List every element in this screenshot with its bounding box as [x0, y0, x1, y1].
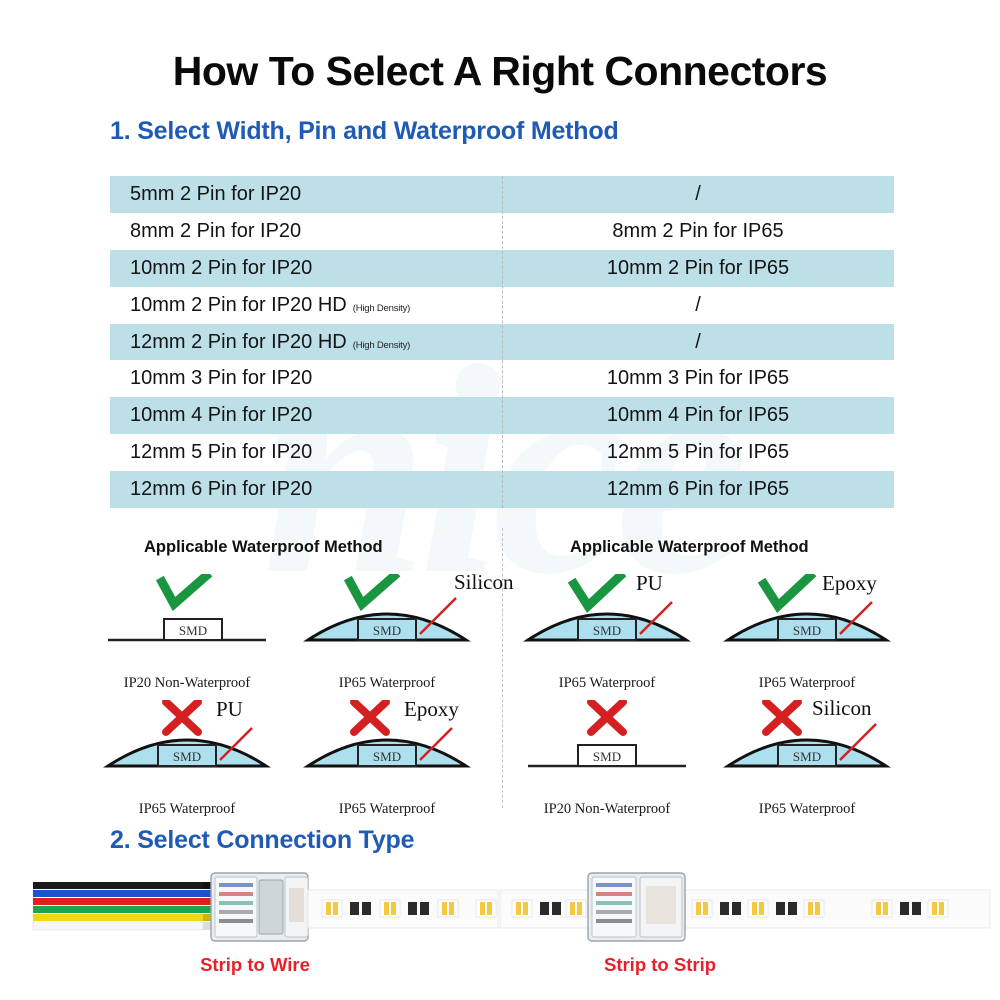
cell-text: 8mm 2 Pin for IP20 — [130, 220, 301, 243]
table-cell-right: / — [502, 176, 894, 213]
table-cell-left: 10mm 2 Pin for IP20 — [110, 250, 502, 287]
material-label: PU — [216, 697, 243, 722]
wire-bundle — [33, 882, 203, 930]
cross-icon — [354, 702, 386, 732]
table-cell-left: 12mm 6 Pin for IP20 — [110, 471, 502, 508]
smd-label: SMD — [793, 623, 821, 638]
waterproof-diagram: SMD Epoxy IP65 Waterproof — [292, 700, 482, 818]
cell-text: 12mm 5 Pin for IP20 — [130, 441, 312, 464]
table-cell-right: 12mm 5 Pin for IP65 — [502, 434, 894, 471]
diagram-caption: IP65 Waterproof — [92, 801, 282, 818]
diagram-caption: IP65 Waterproof — [712, 801, 902, 818]
check-icon — [350, 576, 394, 604]
cell-text: 10mm 3 Pin for IP65 — [607, 367, 789, 390]
cell-text: 5mm 2 Pin for IP20 — [130, 183, 301, 206]
cell-text: 12mm 5 Pin for IP65 — [607, 441, 789, 464]
led-strip-left — [308, 890, 498, 928]
check-icon — [764, 576, 810, 606]
cell-text: 10mm 2 Pin for IP20 — [130, 257, 312, 280]
connector-photo-graphic — [0, 868, 1000, 1000]
waterproof-diagram: SMD Epoxy IP65 Waterproof — [712, 574, 902, 692]
material-label: Epoxy — [404, 697, 459, 722]
smd-label: SMD — [793, 749, 821, 764]
table-cell-left: 12mm 5 Pin for IP20 — [110, 434, 502, 471]
diagram-caption: IP65 Waterproof — [512, 675, 702, 692]
cell-text: 12mm 6 Pin for IP65 — [607, 478, 789, 501]
smd-label: SMD — [373, 623, 401, 638]
table-cell-left: 8mm 2 Pin for IP20 — [110, 213, 502, 250]
waterproof-diagram: SMD IP20 Non-Waterproof — [92, 574, 282, 692]
diagram-graphic: SMD — [512, 574, 702, 674]
connection-type-illustration: Strip to Wire Strip to Strip — [0, 868, 1000, 1000]
strip-to-strip-connector — [588, 873, 685, 941]
smd-label: SMD — [373, 749, 401, 764]
diagram-caption: IP65 Waterproof — [292, 801, 482, 818]
material-label: Silicon — [812, 696, 872, 721]
cell-text: 10mm 4 Pin for IP20 — [130, 404, 312, 427]
check-icon — [162, 576, 206, 604]
cell-text: 10mm 2 Pin for IP65 — [607, 257, 789, 280]
smd-label: SMD — [173, 749, 201, 764]
cell-text: 10mm 3 Pin for IP20 — [130, 367, 312, 390]
high-density-note: (High Density) — [353, 340, 410, 351]
waterproof-diagram: SMD Silicon IP65 Waterproof — [292, 574, 482, 692]
table-cell-right: / — [502, 324, 894, 361]
diagram-graphic: SMD — [712, 700, 902, 800]
waterproof-diagram: SMD Silicon IP65 Waterproof — [712, 700, 902, 818]
cross-icon — [166, 702, 198, 732]
table-cell-right: 10mm 2 Pin for IP65 — [502, 250, 894, 287]
table-cell-left: 5mm 2 Pin for IP20 — [110, 176, 502, 213]
smd-label: SMD — [179, 623, 207, 638]
table-cell-right: / — [502, 287, 894, 324]
diagram-graphic: SMD — [512, 700, 702, 800]
table-cell-right: 10mm 3 Pin for IP65 — [502, 360, 894, 397]
waterproof-diagram: SMD PU IP65 Waterproof — [512, 574, 702, 692]
diagram-graphic: SMD — [92, 574, 282, 674]
cell-text: / — [695, 294, 701, 317]
page-title: How To Select A Right Connectors — [0, 48, 1000, 95]
strip-to-wire-caption: Strip to Wire — [175, 954, 335, 976]
table-cell-right: 8mm 2 Pin for IP65 — [502, 213, 894, 250]
table-cell-left: 10mm 4 Pin for IP20 — [110, 397, 502, 434]
section-2-heading: 2. Select Connection Type — [110, 826, 414, 855]
waterproof-diagram: SMD PU IP65 Waterproof — [92, 700, 282, 818]
cell-text: 10mm 2 Pin for IP20 HD — [130, 294, 347, 317]
table-column-divider — [502, 176, 503, 508]
waterproof-heading-left: Applicable Waterproof Method — [144, 538, 383, 557]
wire-terminals — [203, 882, 211, 930]
table-cell-left: 12mm 2 Pin for IP20 HD(High Density) — [110, 324, 502, 361]
section-1-heading: 1. Select Width, Pin and Waterproof Meth… — [110, 117, 619, 146]
cell-text: / — [695, 331, 701, 354]
strip-to-wire-connector — [211, 873, 308, 941]
check-icon — [574, 576, 620, 606]
cross-icon — [591, 702, 623, 732]
high-density-note: (High Density) — [353, 303, 410, 314]
diagram-graphic: SMD — [92, 700, 282, 800]
cell-text: 12mm 6 Pin for IP20 — [130, 478, 312, 501]
cross-icon — [766, 702, 798, 732]
table-cell-left: 10mm 2 Pin for IP20 HD(High Density) — [110, 287, 502, 324]
smd-label: SMD — [593, 623, 621, 638]
diagram-caption: IP20 Non-Waterproof — [512, 801, 702, 818]
cell-text: / — [695, 183, 701, 206]
diagram-caption: IP65 Waterproof — [292, 675, 482, 692]
table-cell-right: 10mm 4 Pin for IP65 — [502, 397, 894, 434]
cell-text: 12mm 2 Pin for IP20 HD — [130, 331, 347, 354]
strip-to-strip-caption: Strip to Strip — [580, 954, 740, 976]
cell-text: 8mm 2 Pin for IP65 — [612, 220, 783, 243]
table-cell-left: 10mm 3 Pin for IP20 — [110, 360, 502, 397]
spec-table: 5mm 2 Pin for IP20 / 8mm 2 Pin for IP20 … — [110, 176, 894, 508]
cell-text: 10mm 4 Pin for IP65 — [607, 404, 789, 427]
material-label: PU — [636, 571, 663, 596]
waterproof-heading-right: Applicable Waterproof Method — [570, 538, 809, 557]
led-strip-right — [500, 890, 990, 928]
diagram-caption: IP20 Non-Waterproof — [92, 675, 282, 692]
smd-label: SMD — [593, 749, 621, 764]
table-cell-right: 12mm 6 Pin for IP65 — [502, 471, 894, 508]
material-label: Silicon — [454, 570, 514, 595]
waterproof-diagram: SMD IP20 Non-Waterproof — [512, 700, 702, 818]
material-label: Epoxy — [822, 571, 877, 596]
diagram-caption: IP65 Waterproof — [712, 675, 902, 692]
